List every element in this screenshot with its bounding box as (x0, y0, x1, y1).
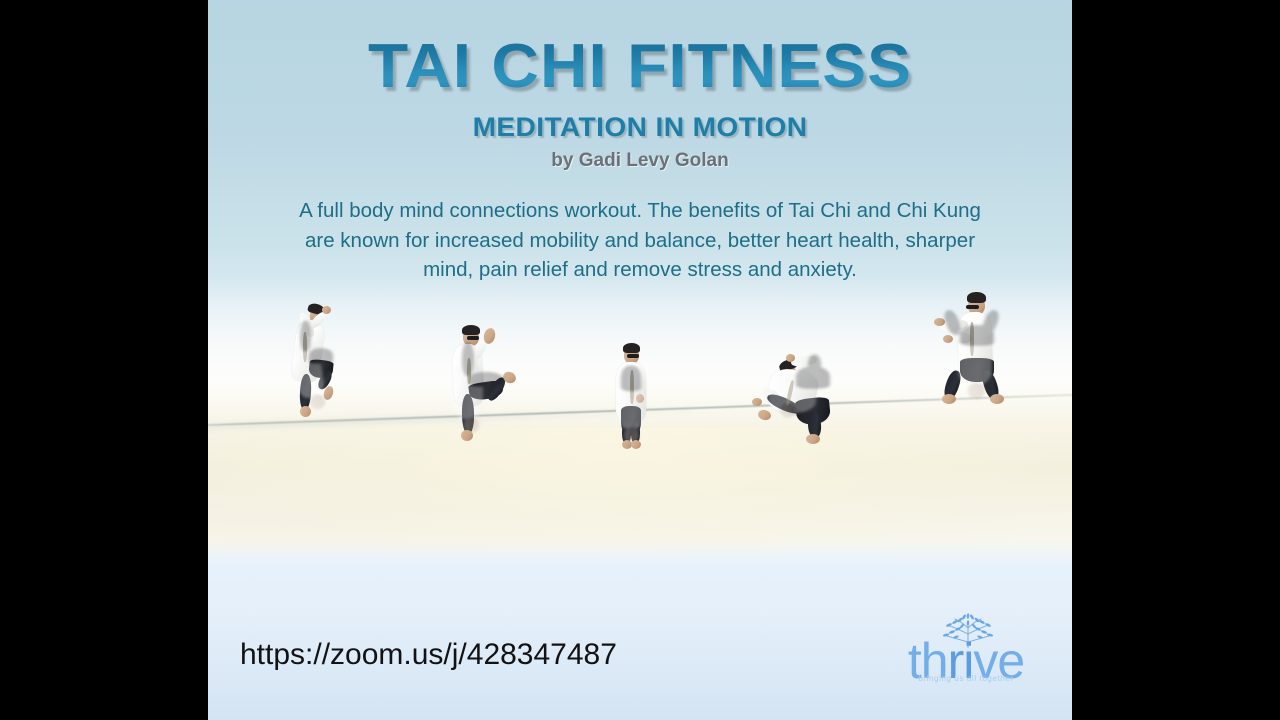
description-text: A full body mind connections workout. Th… (290, 196, 990, 285)
letterbox-bar-left (0, 0, 208, 720)
figure-5-reflection (926, 299, 1046, 406)
page-title: TAI CHI FITNESS (208, 36, 1072, 98)
figure-4-reflection (738, 342, 868, 442)
figure-3-reflection (608, 352, 678, 448)
figure-4-reflection-leg (808, 354, 821, 376)
figure-1-reflection-leg (300, 321, 311, 352)
figure-2-reflection-leg (462, 342, 474, 376)
thrive-logo: thrive bringing us all together (880, 612, 1052, 694)
screenshot-stage: TAI CHI FITNESS MEDITATION IN MOTION by … (0, 0, 1280, 720)
figure-1-reflection-thigh (309, 348, 333, 363)
taichi-figure-3 (608, 340, 678, 452)
figure-5-reflection-leg-a (942, 309, 964, 337)
figure-4-reflection-head (780, 403, 796, 418)
figure-2-reflection-thigh (469, 372, 503, 387)
page-subtitle: MEDITATION IN MOTION (208, 112, 1072, 142)
presentation-slide: TAI CHI FITNESS MEDITATION IN MOTION by … (208, 0, 1072, 720)
author-byline: by Gadi Levy Golan (208, 150, 1072, 172)
taichi-figure-2 (445, 320, 555, 442)
figure-3-reflection-head (624, 427, 639, 442)
figure-1-reflection-head (310, 395, 325, 410)
letterbox-bar-right (1072, 0, 1280, 720)
taichi-figure-5 (926, 288, 1046, 412)
thrive-tagline: bringing us all together (880, 674, 1052, 684)
beach-taichi-photo (208, 278, 1072, 566)
figure-2-reflection (445, 335, 555, 440)
figure-2-hair (462, 325, 480, 335)
figure-2-reflection-head (463, 418, 479, 433)
figure-5-reflection-leg-b (980, 309, 1002, 337)
figure-5-reflection-head (968, 383, 985, 399)
figure-3-reflection-pants (621, 365, 641, 391)
photo-bottom-fade (208, 540, 1072, 566)
zoom-meeting-link[interactable]: https://zoom.us/j/428347487 (240, 638, 617, 672)
taichi-figure-1 (270, 298, 350, 420)
taichi-figure-4 (738, 336, 868, 452)
figure-1-reflection (270, 312, 350, 417)
